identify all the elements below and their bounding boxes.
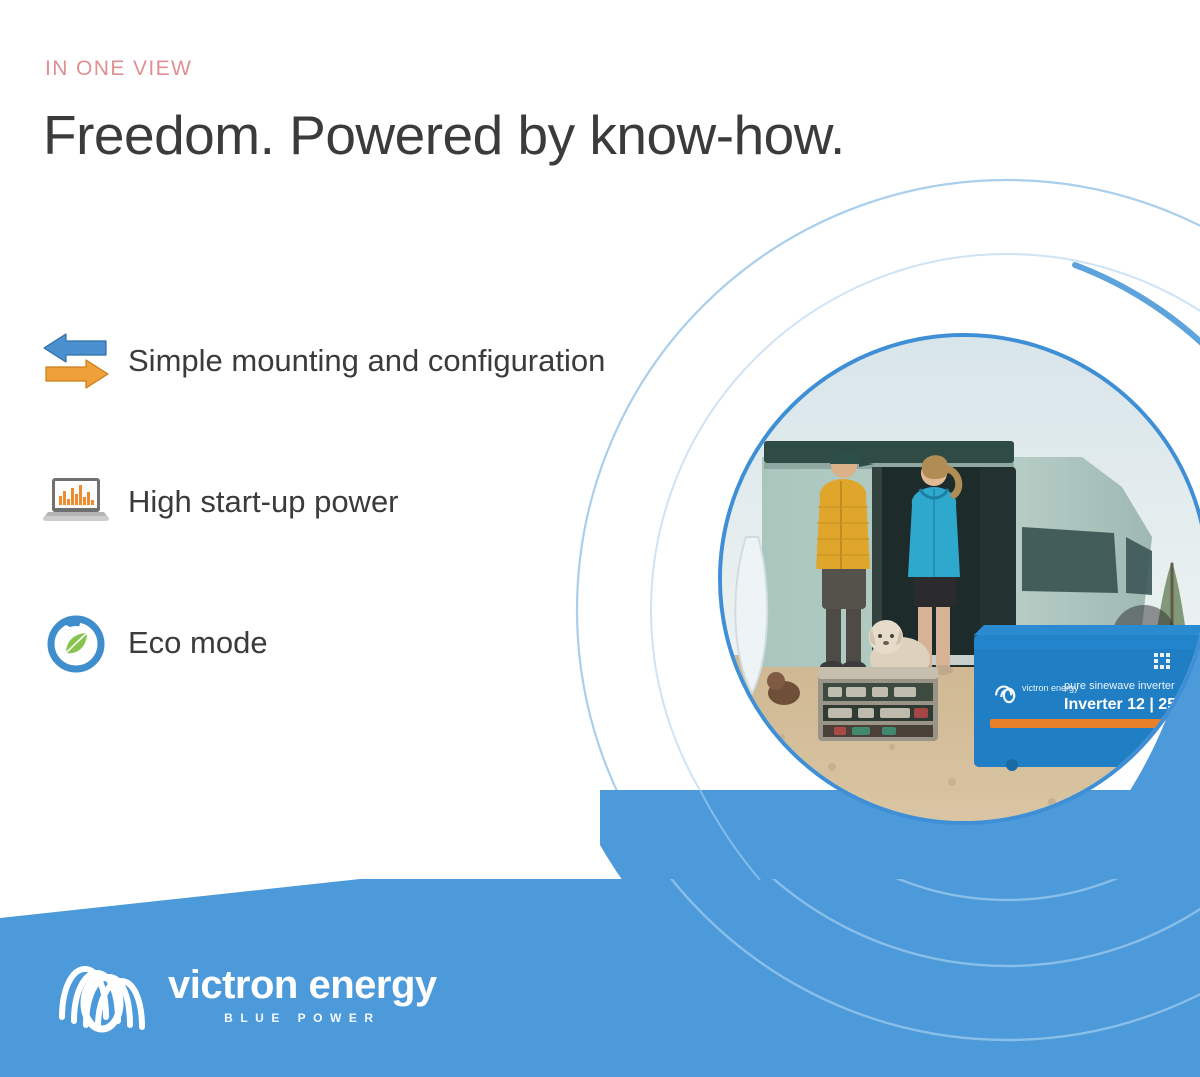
slide-canvas: IN ONE VIEW Freedom. Powered by know-how… [0,0,1200,1077]
photo-illustration: victron energy pure sinewave inverter In… [722,337,1200,821]
feature-label: Eco mode [128,625,268,661]
feature-item: High start-up power [38,466,798,538]
svg-text:Inverter 12 | 250: Inverter 12 | 250 [1064,696,1185,713]
feature-item: Eco mode [38,607,798,679]
victron-logo: victron energy BLUE POWER [52,955,437,1033]
svg-text:pure sinewave inverter: pure sinewave inverter [1064,680,1175,692]
page-title: Freedom. Powered by know-how. [43,103,845,167]
logo-wordmark: victron energy [168,965,437,1005]
two-way-arrows-icon [38,327,114,395]
victron-logo-mark [52,955,156,1033]
feature-list: Simple mounting and configuration [38,325,798,748]
feature-item: Simple mounting and configuration [38,325,798,397]
victron-logo-text: victron energy BLUE POWER [168,965,437,1025]
feature-label: High start-up power [128,484,399,520]
logo-tagline: BLUE POWER [168,1011,437,1025]
inverter-product: victron energy pure sinewave inverter In… [974,625,1200,771]
feature-label: Simple mounting and configuration [128,343,605,379]
eyebrow-label: IN ONE VIEW [45,57,192,81]
hero-photo: victron energy pure sinewave inverter In… [718,333,1200,825]
recycle-leaf-icon [38,609,114,677]
laptop-bar-chart-icon [38,468,114,536]
